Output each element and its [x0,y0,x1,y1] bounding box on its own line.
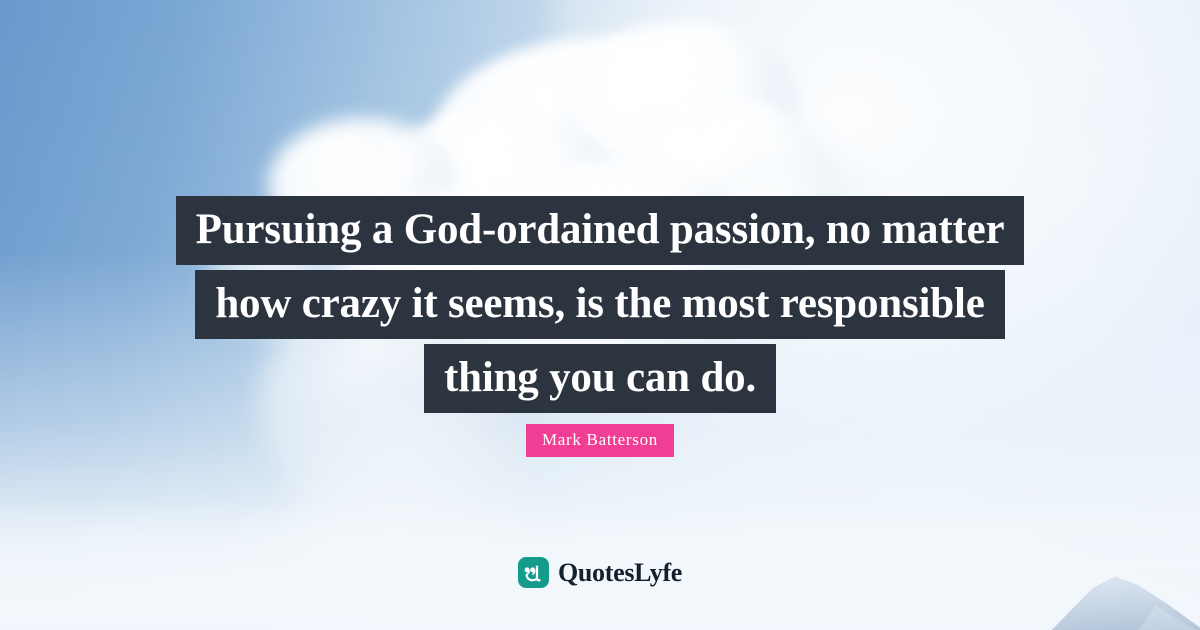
quote-line-3: thing you can do. [424,344,776,413]
quote-smiley-icon [518,557,549,588]
quote-text: Pursuing a God-ordained passion, no matt… [0,196,1200,418]
author-attribution: Mark Batterson [0,424,1200,457]
quote-line-2: how crazy it seems, is the most responsi… [195,270,1004,339]
brand-name: QuotesLyfe [558,560,682,586]
brand-logo[interactable]: QuotesLyfe [0,557,1200,588]
author-name-badge: Mark Batterson [526,424,674,457]
quote-card: Pursuing a God-ordained passion, no matt… [0,0,1200,630]
quote-line-1: Pursuing a God-ordained passion, no matt… [176,196,1025,265]
